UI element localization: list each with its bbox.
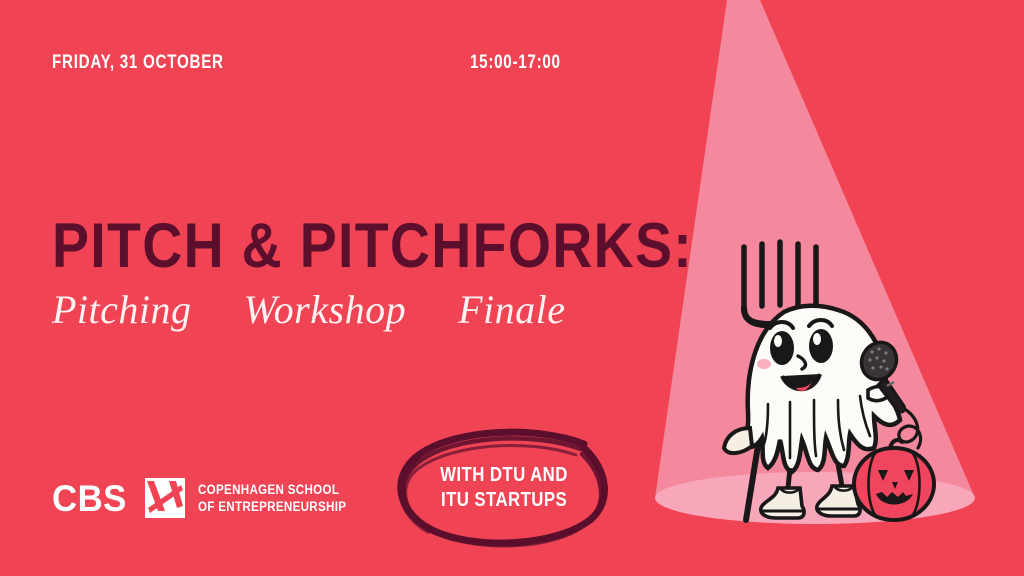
partner-badge: WITH DTU AND ITU STARTUPS [388,422,620,554]
event-date: FRIDAY, 31 OCTOBER [52,52,224,74]
cbs-wordmark: CBS [52,480,127,517]
ghost-mascot-illustration [672,236,972,536]
eye-right-icon [809,329,833,363]
badge-line-1: WITH DTU AND [440,464,568,487]
cbs-tagline-line2: OF ENTREPRENEURSHIP [198,498,346,515]
jack-o-lantern-icon [854,440,934,520]
poster-canvas: FRIDAY, 31 OCTOBER 15:00-17:00 PITCH & P… [0,0,1024,576]
subitem-pitching: Pitching [52,287,192,332]
eye-left-icon [770,331,794,365]
cbs-tagline: COPENHAGEN SCHOOL OF ENTREPRENEURSHIP [198,481,346,516]
badge-line-2: ITU STARTUPS [441,489,567,512]
blush-icon [757,359,771,369]
subitem-finale: Finale [458,287,565,332]
page-title: PITCH & PITCHFORKS: [52,216,693,278]
ghost-left-hand [724,428,752,453]
cbs-diagonal-slash-mark-icon [145,478,185,518]
ghost-legs [761,464,860,518]
partner-badge-text: WITH DTU AND ITU STARTUPS [388,422,620,554]
subitem-workshop: Workshop [244,287,407,332]
event-time: 15:00-17:00 [470,52,561,74]
cbs-logo: CBS COPENHAGEN SCHOOL OF ENTREPRENEURSHI… [52,478,370,518]
cbs-tagline-line1: COPENHAGEN SCHOOL [198,481,346,498]
sneaker-left-icon [761,488,804,518]
